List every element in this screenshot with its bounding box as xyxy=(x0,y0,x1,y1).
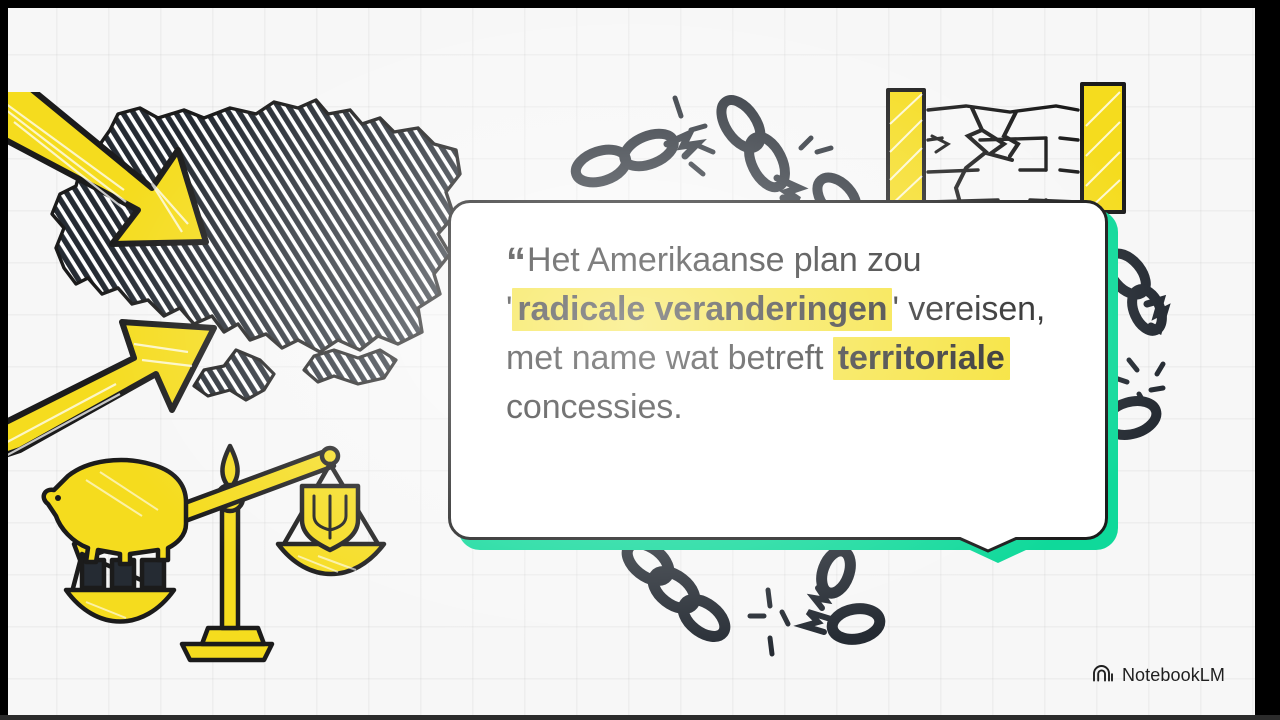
ukraine-map-sketch xyxy=(8,88,468,438)
bottom-letterbox-bar xyxy=(0,715,1280,720)
notebooklm-label: NotebookLM xyxy=(1122,665,1225,686)
broken-chain-right-icon xyxy=(1103,248,1213,448)
broken-chain-top-icon xyxy=(563,82,893,212)
notebooklm-spiral-icon xyxy=(1092,664,1114,687)
quote-speech-bubble: “Het Amerikaanse plan zou 'radicale vera… xyxy=(448,200,1116,570)
arrow-down-left-icon xyxy=(8,92,252,282)
cracked-wall-icon xyxy=(870,78,1146,218)
notebooklm-watermark: NotebookLM xyxy=(1092,664,1225,687)
video-slide-stage: “Het Amerikaanse plan zou 'radicale vera… xyxy=(0,0,1280,720)
slide-canvas: “Het Amerikaanse plan zou 'radicale vera… xyxy=(8,8,1255,715)
quote-highlight-radicale-veranderingen: radicale veranderingen xyxy=(512,288,892,331)
quote-segment-plain-3: concessies. xyxy=(506,388,683,426)
quote-text: “Het Amerikaanse plan zou 'radicale vera… xyxy=(506,236,1066,432)
quote-highlight-territoriale: territoriale xyxy=(833,337,1010,380)
arrow-up-left-icon xyxy=(8,300,232,470)
open-quote-icon: “ xyxy=(506,240,525,284)
balance-scale-icon xyxy=(26,432,426,680)
